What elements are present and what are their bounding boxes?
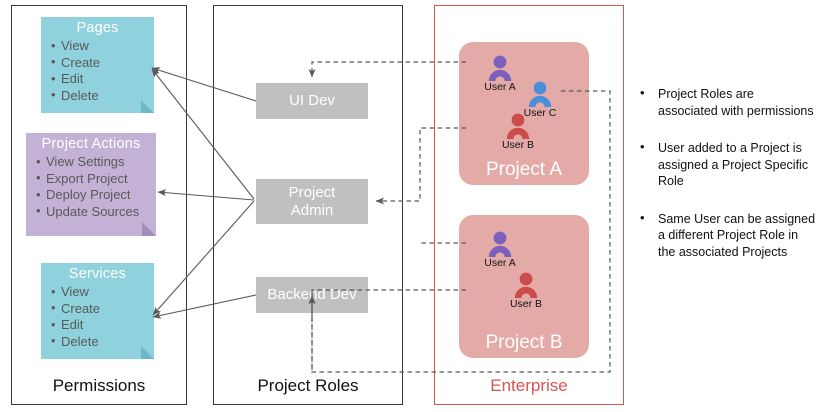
diagram-canvas: Pages View Create Edit Delete Project Ac… [0,0,820,412]
callout-text: Project Roles are associated with permis… [658,86,816,119]
connector-user-c-project-a-loop [312,91,610,372]
connector-user-b-project-a-to-project-admin [376,128,466,201]
callout-list: Project Roles are associated with permis… [636,86,816,281]
callout-text: User added to a Project is assigned a Pr… [658,140,816,190]
connector-user-b-project-b-to-backend-dev [312,290,466,321]
connector-project-admin-to-pages [152,69,254,199]
connector-user-a-project-a-to-ui-dev [312,62,466,77]
callout-text: Same User can be assigned a different Pr… [658,211,816,261]
connector-project-admin-to-project-actions [158,192,254,200]
callout-item: Project Roles are associated with permis… [636,86,816,119]
panel-label-permissions: Permissions [11,376,187,396]
panel-label-enterprise: Enterprise [434,376,624,396]
panel-label-project-roles: Project Roles [213,376,403,396]
connector-project-admin-to-services [153,201,254,315]
callout-item: User added to a Project is assigned a Pr… [636,140,816,190]
callout-item: Same User can be assigned a different Pr… [636,211,816,261]
connector-ui-dev-to-pages [152,68,256,101]
